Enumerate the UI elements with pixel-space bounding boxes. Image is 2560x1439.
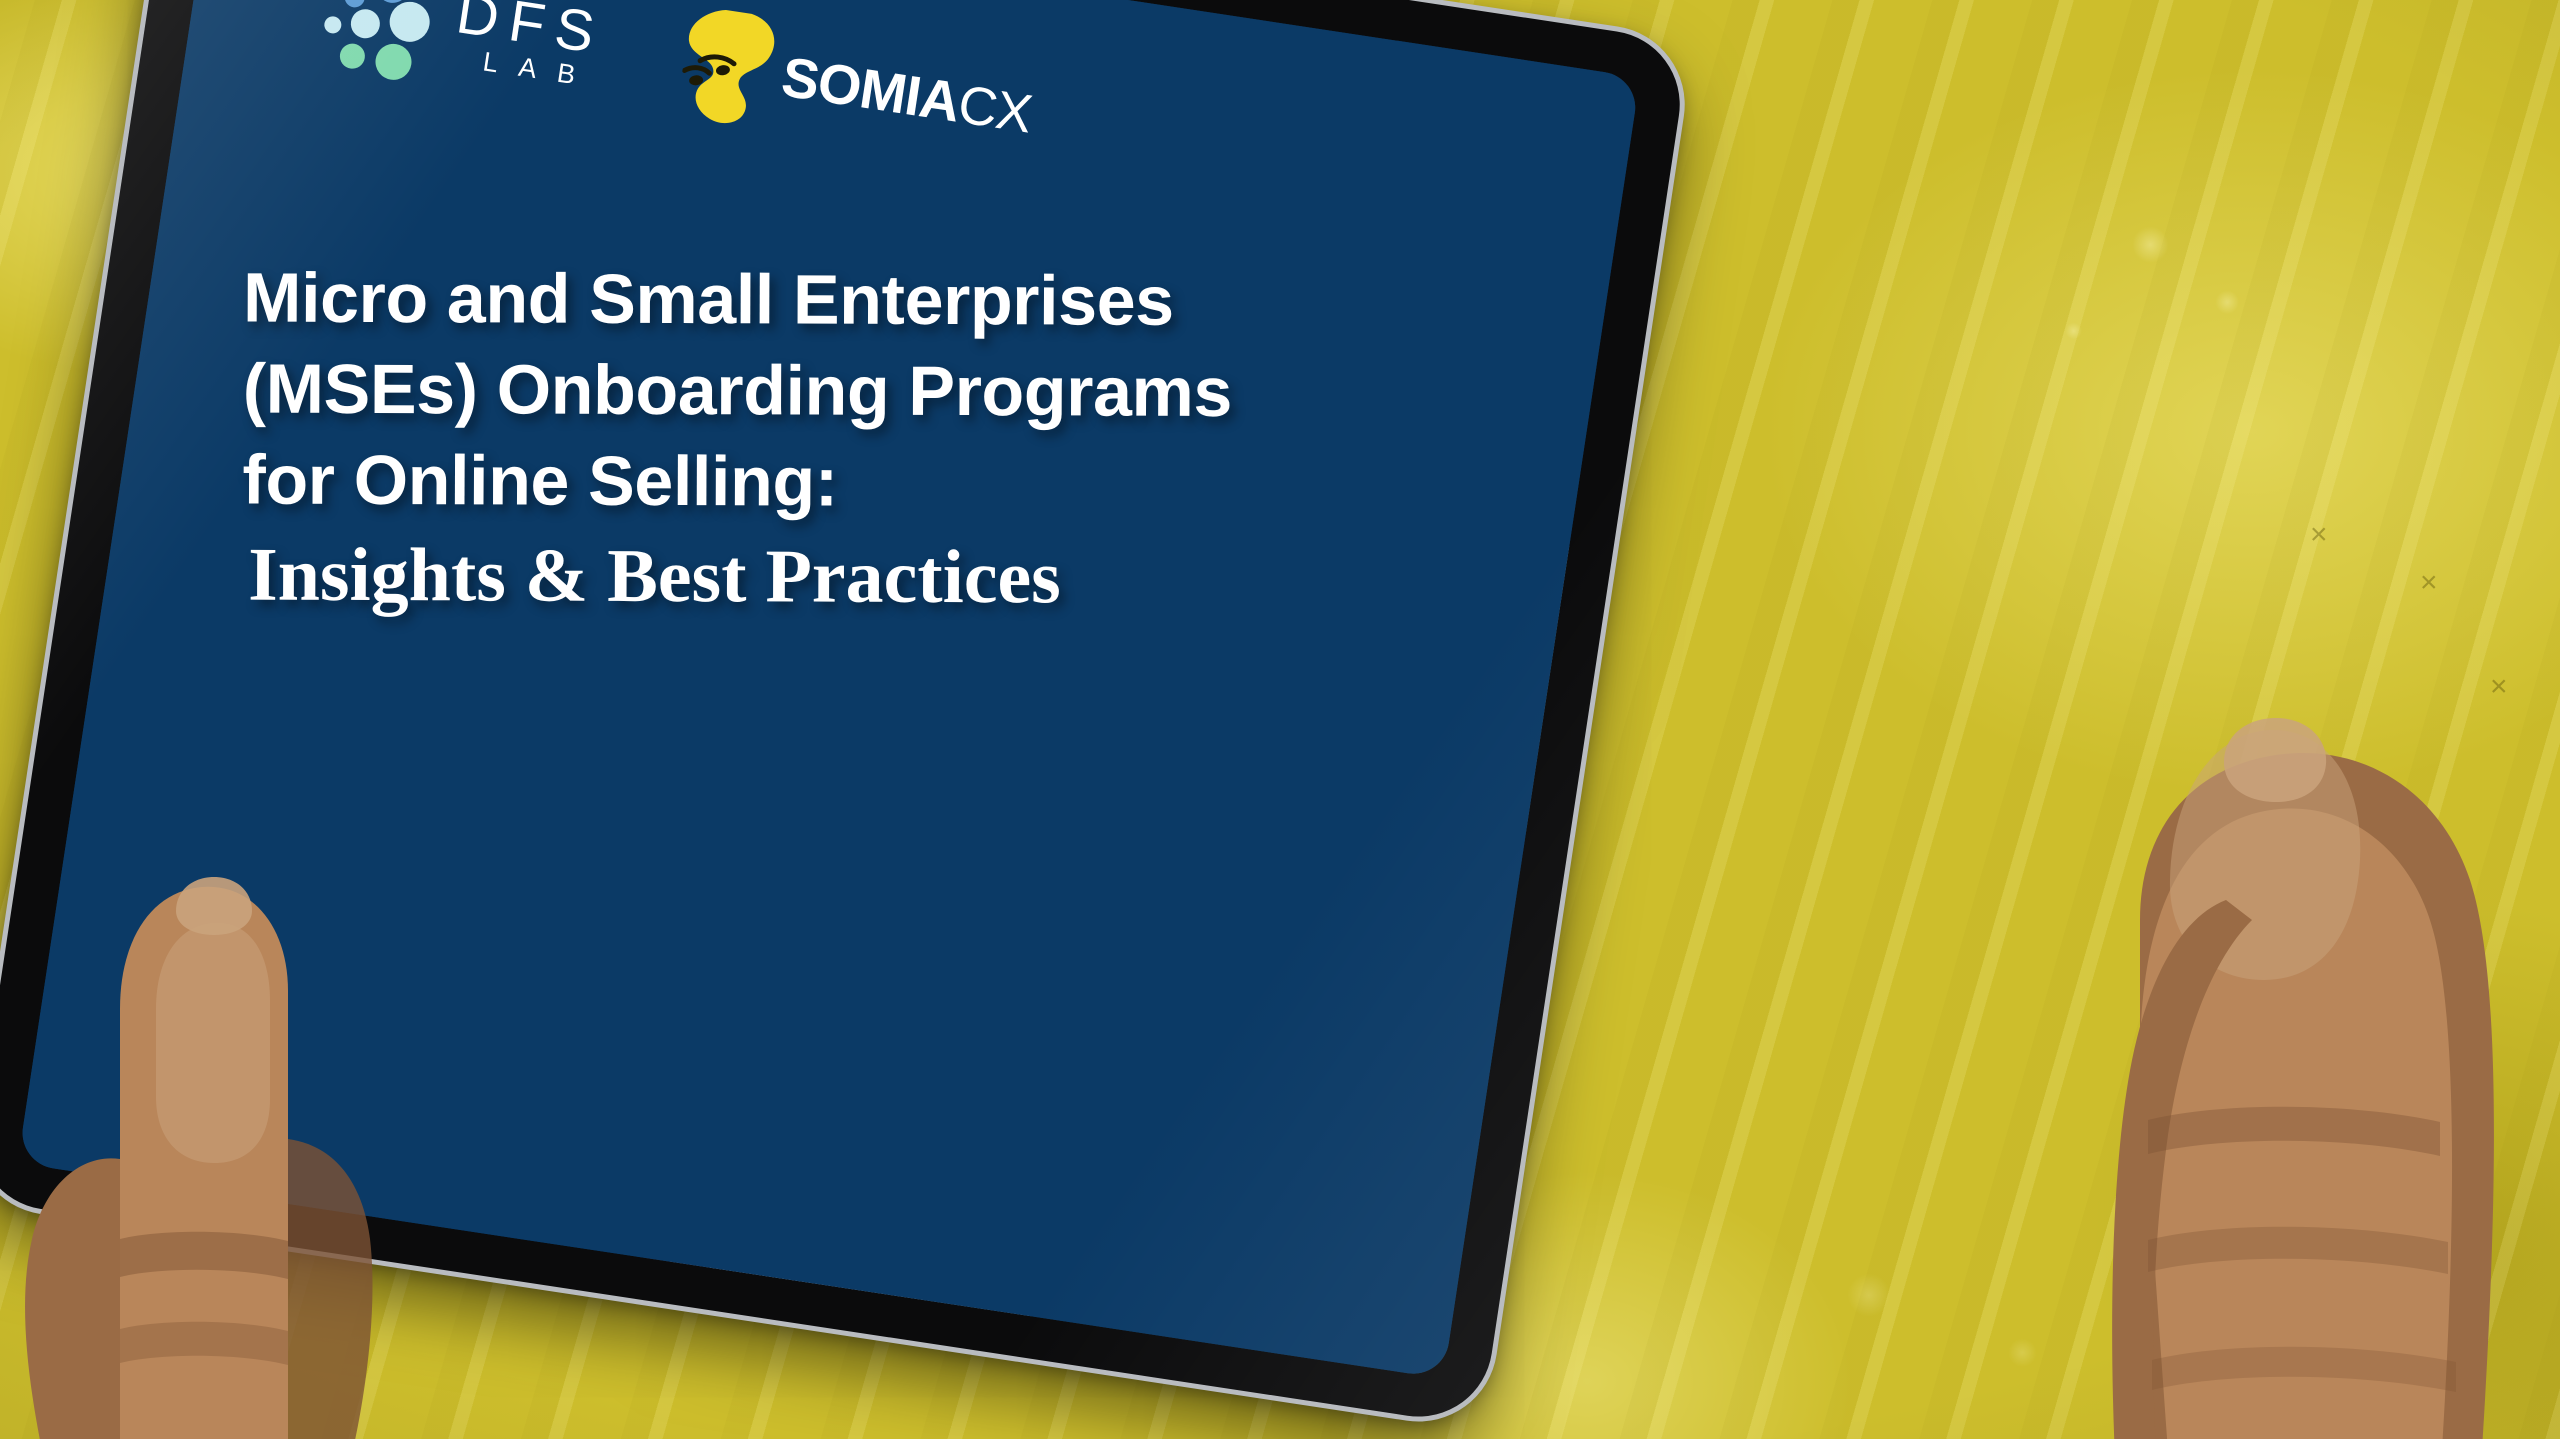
right-hand-holding-tablet (2020, 360, 2560, 1439)
title-line-2: (MSEs) Onboarding Programs (242, 343, 1367, 438)
title-line-3: for Online Selling: (242, 434, 1367, 529)
somia-logo-light-text: CX (955, 78, 1035, 142)
left-hand-holding-tablet (0, 539, 490, 1439)
dfs-dots-icon (318, 0, 441, 77)
somia-logo-bold-text: SOMIA (778, 49, 963, 131)
title-line-1: Micro and Small Enterprises (243, 252, 1368, 347)
somia-face-mark-icon (675, 3, 788, 134)
slide-stage: × × × × × EXIT (0, 0, 2560, 1439)
